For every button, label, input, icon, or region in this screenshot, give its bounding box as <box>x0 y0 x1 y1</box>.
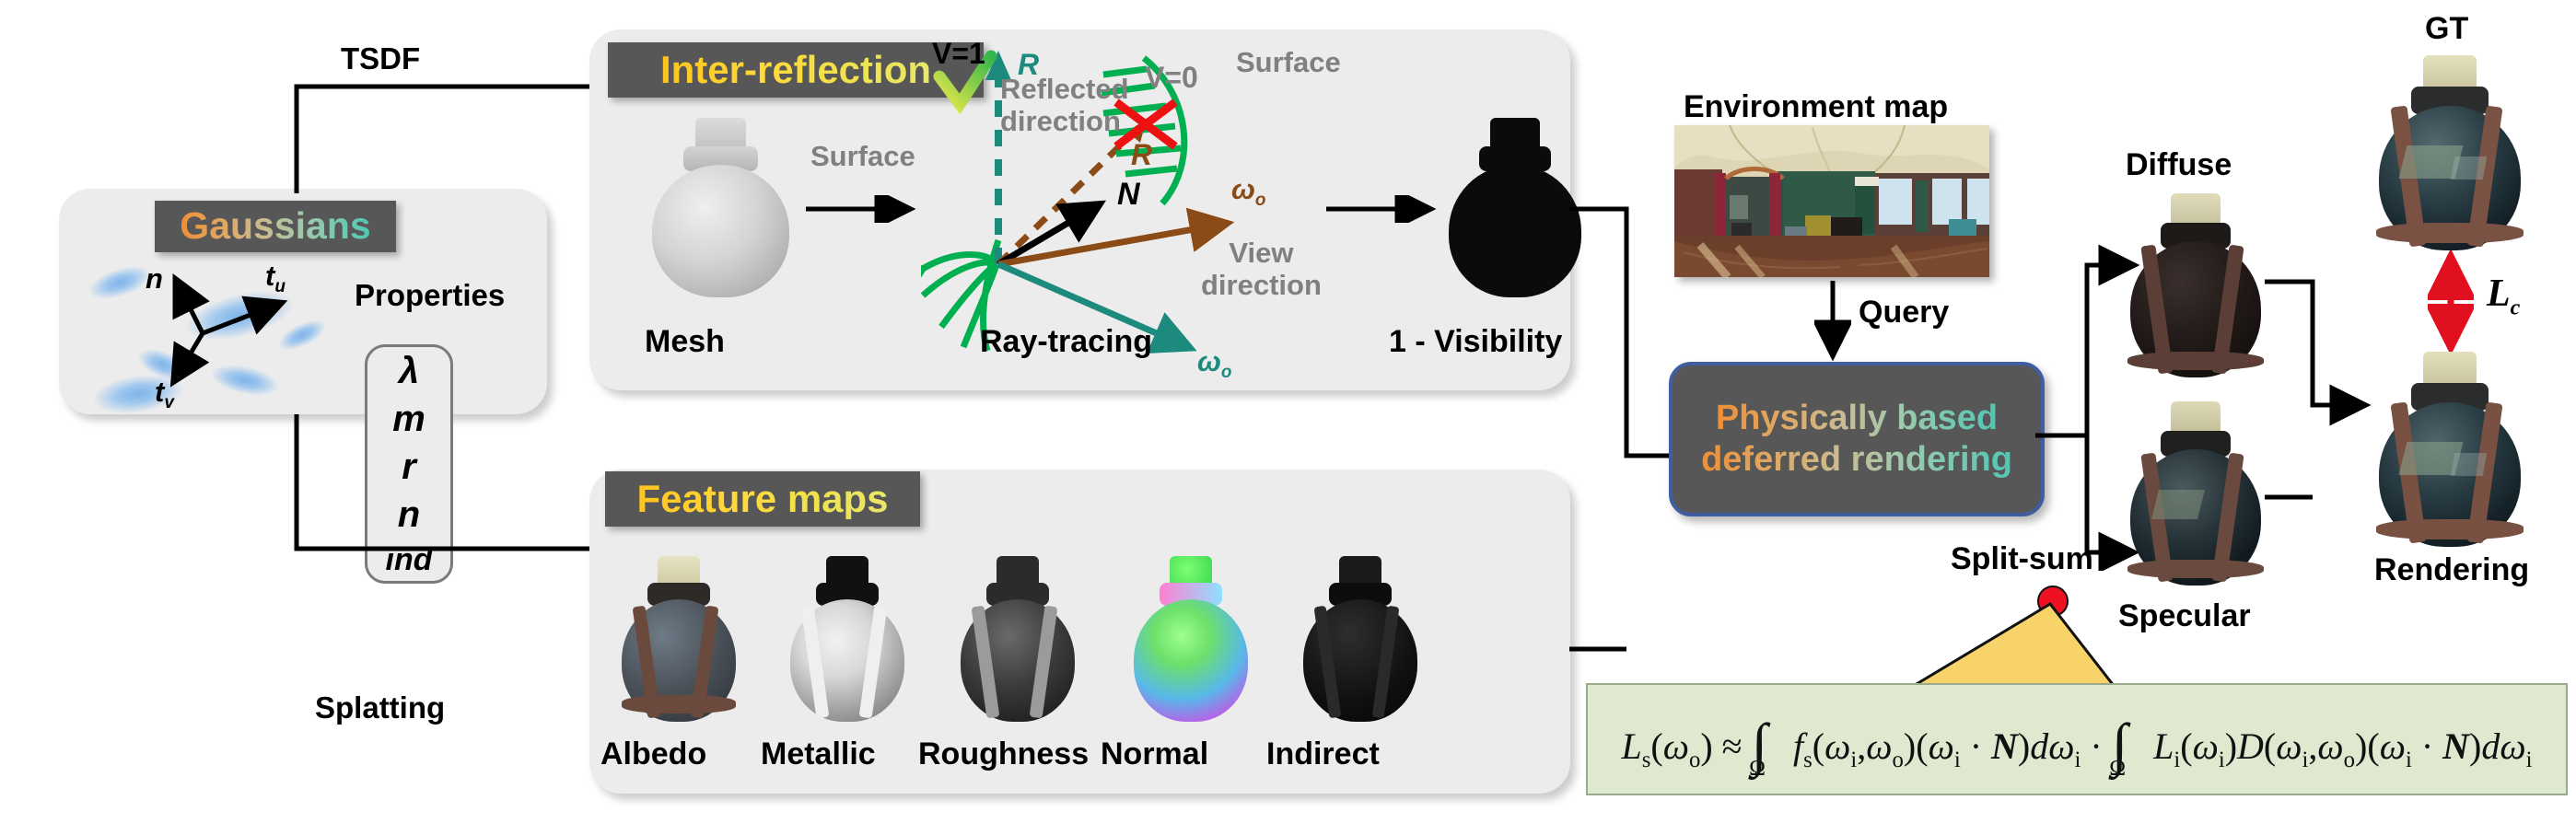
loss-label: Lc <box>2487 272 2520 320</box>
view-direction-line2: direction <box>1201 270 1322 302</box>
pbr-deferred-rendering-box: Physically based deferred rendering <box>1669 362 2045 516</box>
pbr-line-2: deferred rendering <box>1701 439 2012 481</box>
label-reflected-direction: Reflected direction <box>1000 74 1129 137</box>
mesh-flask-image <box>649 118 792 297</box>
axis-label-tu: tu <box>265 260 286 297</box>
vector-label-omega-o-down: ωo <box>1197 345 1231 383</box>
roughness-map-image <box>958 556 1078 722</box>
metallic-map-image <box>787 556 907 722</box>
caption-mesh: Mesh <box>645 324 725 360</box>
caption-split-sum: Split-sum <box>1951 541 2093 577</box>
interreflection-chip-label: Inter-reflection <box>660 50 931 90</box>
split-sum-callout <box>1879 598 2118 690</box>
query-label: Query <box>1859 295 1949 331</box>
mesh-to-raytracing-arrow <box>806 195 926 223</box>
caption-roughness: Roughness <box>918 736 1089 772</box>
gaussian-local-frame <box>111 267 322 396</box>
indirect-map-image <box>1300 556 1420 722</box>
normal-map-image <box>1131 556 1251 722</box>
label-v-equals-1: V=1 <box>932 37 985 71</box>
rendering-equation-box: Ls(ωo) ≈ ∫Ω fs(ωi,ωo)(ωi · N)dωi · ∫Ω Li… <box>1586 683 2568 795</box>
label-surface-left: Surface <box>810 140 915 173</box>
albedo-map-image <box>619 556 739 722</box>
rendering-equation: Ls(ωo) ≈ ∫Ω fs(ωi,ωo)(ωi · N)dωi · ∫Ω Li… <box>1621 705 2532 773</box>
splatting-label: Splatting <box>315 690 445 725</box>
view-direction-line1: View <box>1201 238 1322 270</box>
label-surface-right: Surface <box>1236 46 1341 79</box>
rendering-image <box>2376 352 2524 547</box>
caption-gt: GT <box>2425 11 2468 47</box>
caption-specular: Specular <box>2118 598 2251 634</box>
diffuse-output-image <box>2127 193 2264 377</box>
axis-label-n: n <box>146 262 163 296</box>
property-lambda: λ <box>399 353 419 389</box>
caption-normal: Normal <box>1101 736 1208 772</box>
loss-arrow <box>2428 250 2474 354</box>
caption-raytracing: Ray-tracing <box>980 324 1152 360</box>
caption-rendering: Rendering <box>2374 552 2529 588</box>
caption-metallic: Metallic <box>761 736 876 772</box>
tsdf-label: TSDF <box>341 41 420 76</box>
caption-visibility: 1 - Visibility <box>1389 324 1562 360</box>
axis-label-tv: tv <box>155 376 174 413</box>
gaussians-chip-label: Gaussians <box>180 206 370 246</box>
caption-diffuse: Diffuse <box>2126 147 2232 183</box>
environment-map-title: Environment map <box>1684 89 1948 125</box>
properties-title: Properties <box>355 278 505 313</box>
merge-to-rendering-arrow <box>2261 267 2390 534</box>
label-v-equals-0: V=0 <box>1145 61 1198 95</box>
reflected-direction-line1: Reflected <box>1000 74 1129 106</box>
pbr-line-1: Physically based <box>1716 398 1998 439</box>
featuremaps-title-chip: Feature maps <box>605 471 920 527</box>
gt-image <box>2376 55 2524 250</box>
featuremaps-chip-label: Feature maps <box>636 479 888 519</box>
vector-label-omega-o-right: ωo <box>1231 173 1265 211</box>
query-arrow <box>1814 281 1851 373</box>
gaussians-title-chip: Gaussians <box>155 201 396 252</box>
raytracing-to-visibility-arrow <box>1326 195 1446 223</box>
vector-label-N: N <box>1117 177 1140 213</box>
specular-output-image <box>2127 401 2264 586</box>
environment-map-image <box>1674 125 1989 277</box>
label-view-direction: View direction <box>1201 238 1322 301</box>
vector-label-R-blocked: R <box>1131 138 1152 172</box>
visibility-flask-image <box>1446 118 1584 297</box>
reflected-direction-line2: direction <box>1000 106 1129 138</box>
caption-indirect: Indirect <box>1266 736 1380 772</box>
caption-albedo: Albedo <box>600 736 706 772</box>
